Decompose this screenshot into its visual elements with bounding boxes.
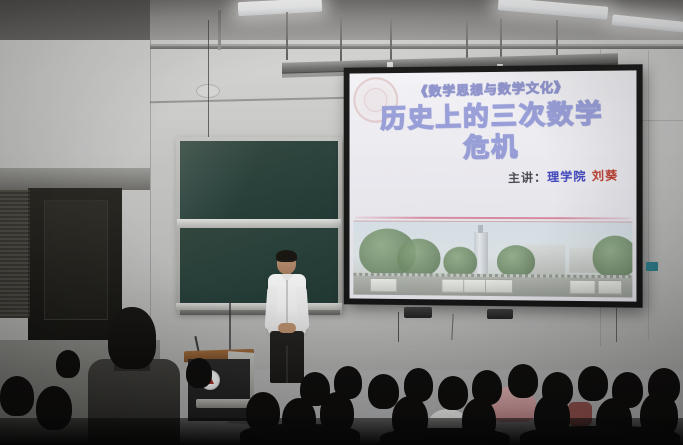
wall-upper-left-band bbox=[0, 168, 150, 190]
presenter-leg-split bbox=[286, 346, 288, 383]
screen-cable-1 bbox=[398, 312, 399, 342]
photo-sign-6 bbox=[598, 280, 622, 294]
wall-teal-fixture bbox=[646, 262, 658, 271]
slide-text-area: 《数学思想与数学文化》 历史上的三次数学 危机 主讲：理学院 刘葵 bbox=[350, 70, 637, 214]
photo-tree-3 bbox=[444, 246, 478, 276]
suspension-rod-2 bbox=[340, 14, 342, 62]
audience-head bbox=[508, 364, 538, 398]
presenter-hands bbox=[278, 323, 296, 333]
slide-campus-photo bbox=[353, 221, 632, 298]
chalkboard-divider-rail bbox=[177, 219, 341, 228]
suspension-rod-1 bbox=[286, 12, 288, 60]
projection-screen[interactable]: 《数学思想与数学文化》 历史上的三次数学 危机 主讲：理学院 刘葵 bbox=[344, 64, 643, 308]
photo-tower-building bbox=[474, 232, 488, 273]
audience-head bbox=[578, 366, 608, 401]
presenter-glasses-icon bbox=[279, 260, 294, 265]
wall-grille bbox=[0, 190, 30, 318]
audience-head bbox=[368, 374, 399, 409]
slide-main-title: 历史上的三次数学 危机 bbox=[380, 99, 604, 165]
audience-head bbox=[56, 350, 80, 378]
presenter-department: 理学院 bbox=[547, 169, 587, 184]
suspension-rod-3 bbox=[390, 16, 392, 64]
wall-seam-far-right bbox=[648, 50, 649, 340]
photo-tree-5 bbox=[592, 235, 632, 278]
slide-course-title: 《数学思想与数学文化》 bbox=[415, 82, 569, 101]
presentation-slide: 《数学思想与数学文化》 历史上的三次数学 危机 主讲：理学院 刘葵 bbox=[350, 70, 637, 301]
photo-tree-4 bbox=[497, 245, 535, 277]
slide-presenter-line: 主讲：理学院 刘葵 bbox=[508, 166, 619, 186]
slide-title-line-2: 危机 bbox=[381, 130, 605, 165]
photo-sign-5 bbox=[570, 280, 596, 294]
audience-head bbox=[438, 376, 468, 410]
photo-sign-1 bbox=[370, 278, 397, 292]
slide-divider-rule bbox=[355, 217, 630, 220]
projection-screen-surface: 《数学思想与数学文化》 历史上的三次数学 危机 主讲：理学院 刘葵 bbox=[350, 70, 637, 301]
ceiling-pipe bbox=[150, 46, 683, 49]
ceiling-conduit bbox=[218, 10, 221, 50]
screen-cable-3 bbox=[616, 306, 617, 342]
slide-title-line-1: 历史上的三次数学 bbox=[380, 99, 604, 134]
photo-sign-4 bbox=[485, 279, 513, 293]
screen-mount-box-1 bbox=[404, 307, 432, 318]
screen-mount-box-2 bbox=[487, 309, 513, 319]
foreground-shadow bbox=[0, 418, 683, 445]
presenter-name: 刘葵 bbox=[591, 168, 618, 183]
chalkboard-glare bbox=[180, 141, 338, 220]
photo-tree-2 bbox=[397, 238, 440, 276]
lecture-hall-photo: 《数学思想与数学文化》 历史上的三次数学 危机 主讲：理学院 刘葵 bbox=[0, 0, 683, 445]
presenter-label: 主讲： bbox=[508, 170, 547, 185]
chalk-tray-shadow bbox=[180, 310, 340, 315]
chalkboard-lower-panel bbox=[180, 228, 338, 304]
podium-cable bbox=[229, 300, 231, 352]
audience-head bbox=[186, 358, 212, 388]
foreground-person-hair bbox=[108, 307, 156, 369]
cabinet-panel bbox=[44, 200, 108, 320]
audience-head bbox=[0, 376, 34, 416]
